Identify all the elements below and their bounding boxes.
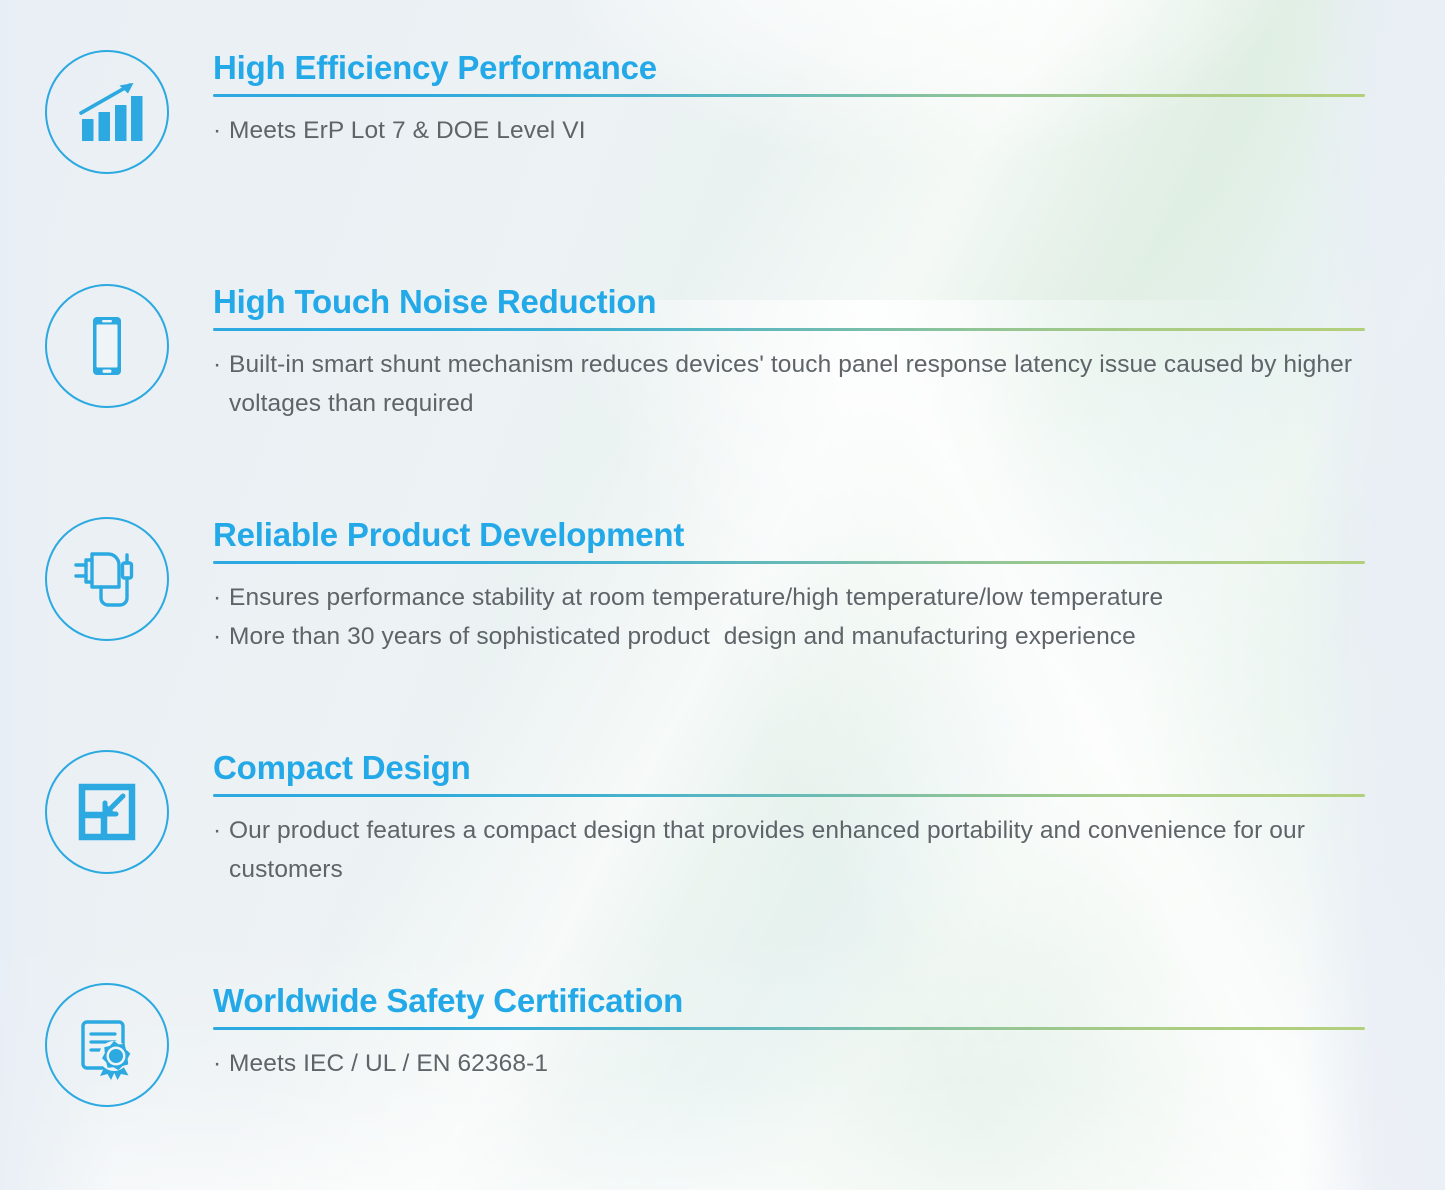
feature-item-reliable-product-development: Reliable Product Development · Ensures p… xyxy=(0,515,1445,656)
feature-bullets: · Meets ErP Lot 7 & DOE Level VI xyxy=(213,111,1365,150)
feature-text-container: High Touch Noise Reduction · Built-in sm… xyxy=(213,282,1445,423)
feature-list: High Efficiency Performance · Meets ErP … xyxy=(0,0,1445,1190)
bullet-item: · Meets ErP Lot 7 & DOE Level VI xyxy=(213,111,1365,150)
feature-title: Compact Design xyxy=(213,748,1365,788)
feature-title: High Efficiency Performance xyxy=(213,48,1365,88)
feature-text-container: Worldwide Safety Certification · Meets I… xyxy=(213,981,1445,1083)
feature-text-container: High Efficiency Performance · Meets ErP … xyxy=(213,48,1445,150)
smartphone-icon xyxy=(45,284,169,408)
feature-icon-container xyxy=(0,48,213,174)
feature-divider xyxy=(213,1027,1365,1030)
bullet-text: Meets ErP Lot 7 & DOE Level VI xyxy=(229,111,1365,150)
bullet-marker: · xyxy=(213,111,229,150)
bullet-marker: · xyxy=(213,1044,229,1083)
feature-divider xyxy=(213,328,1365,331)
feature-title: High Touch Noise Reduction xyxy=(213,282,1365,322)
bullet-marker: · xyxy=(213,578,229,617)
feature-title: Reliable Product Development xyxy=(213,515,1365,555)
feature-bullets: · Ensures performance stability at room … xyxy=(213,578,1365,656)
bullet-text: Meets IEC / UL / EN 62368-1 xyxy=(229,1044,1365,1083)
certificate-award-icon xyxy=(45,983,169,1107)
feature-icon-container xyxy=(0,748,213,874)
feature-icon-container xyxy=(0,282,213,408)
bullet-item: · Built-in smart shunt mechanism reduces… xyxy=(213,345,1365,423)
bullet-marker: · xyxy=(213,617,229,656)
bullet-item: · Ensures performance stability at room … xyxy=(213,578,1365,617)
feature-icon-container xyxy=(0,981,213,1107)
feature-text-container: Compact Design · Our product features a … xyxy=(213,748,1445,889)
compact-resize-icon xyxy=(45,750,169,874)
bullet-text: Built-in smart shunt mechanism reduces d… xyxy=(229,345,1365,423)
bullet-text: Our product features a compact design th… xyxy=(229,811,1365,889)
bullet-item: · More than 30 years of sophisticated pr… xyxy=(213,617,1365,656)
feature-item-compact-design: Compact Design · Our product features a … xyxy=(0,748,1445,889)
feature-item-high-touch-noise-reduction: High Touch Noise Reduction · Built-in sm… xyxy=(0,282,1445,423)
feature-item-worldwide-safety-certification: Worldwide Safety Certification · Meets I… xyxy=(0,981,1445,1107)
power-adapter-icon xyxy=(45,517,169,641)
feature-bullets: · Built-in smart shunt mechanism reduces… xyxy=(213,345,1365,423)
bullet-item: · Our product features a compact design … xyxy=(213,811,1365,889)
bar-chart-growth-icon xyxy=(45,50,169,174)
feature-bullets: · Meets IEC / UL / EN 62368-1 xyxy=(213,1044,1365,1083)
bullet-marker: · xyxy=(213,811,229,850)
feature-list-page: High Efficiency Performance · Meets ErP … xyxy=(0,0,1445,1190)
feature-item-high-efficiency-performance: High Efficiency Performance · Meets ErP … xyxy=(0,48,1445,174)
feature-text-container: Reliable Product Development · Ensures p… xyxy=(213,515,1445,656)
feature-divider xyxy=(213,561,1365,564)
bullet-marker: · xyxy=(213,345,229,384)
bullet-item: · Meets IEC / UL / EN 62368-1 xyxy=(213,1044,1365,1083)
feature-title: Worldwide Safety Certification xyxy=(213,981,1365,1021)
bullet-text: Ensures performance stability at room te… xyxy=(229,578,1365,617)
feature-divider xyxy=(213,794,1365,797)
feature-divider xyxy=(213,94,1365,97)
bullet-text: More than 30 years of sophisticated prod… xyxy=(229,617,1365,656)
feature-icon-container xyxy=(0,515,213,641)
feature-bullets: · Our product features a compact design … xyxy=(213,811,1365,889)
